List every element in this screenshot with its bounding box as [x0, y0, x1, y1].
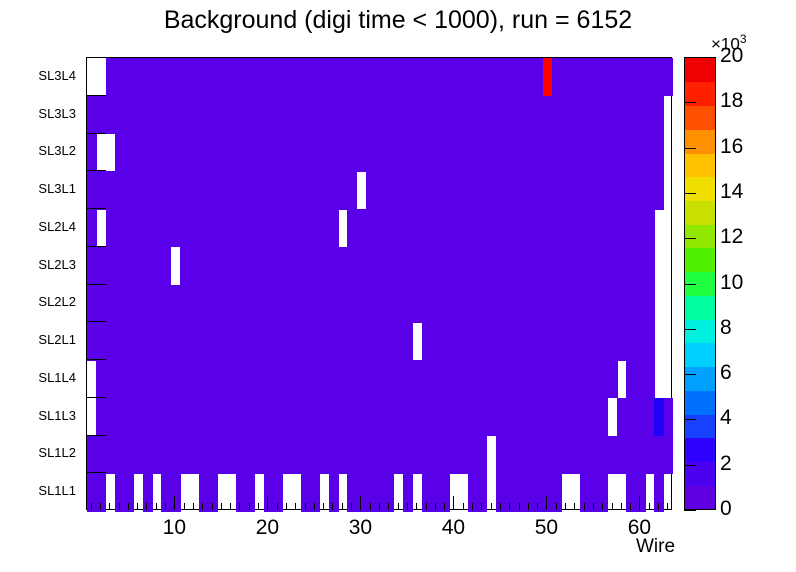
x-axis-minor-tick	[574, 503, 575, 510]
color-scale-label-0: 0	[720, 497, 732, 521]
x-axis-minor-tick	[519, 503, 520, 510]
x-axis-minor-tick	[295, 503, 296, 510]
x-axis-minor-tick	[407, 503, 408, 510]
y-axis-tick	[86, 208, 106, 209]
x-axis-minor-tick	[509, 503, 510, 510]
heatmap-cell	[552, 58, 673, 96]
heatmap-cells	[87, 58, 671, 509]
y-axis-tick	[86, 397, 106, 398]
heatmap-cell	[87, 96, 664, 134]
color-scale-tick	[684, 102, 696, 103]
y-axis-label-sl3l1: SL3L1	[14, 181, 76, 196]
y-axis-tick	[86, 359, 106, 360]
multiplier-exponent: 3	[740, 32, 747, 46]
x-axis-major-tick	[267, 496, 268, 510]
x-axis-title: Wire	[636, 536, 675, 558]
color-scale-band	[685, 390, 715, 414]
heatmap-cell	[180, 247, 655, 285]
x-axis-minor-tick	[109, 503, 110, 510]
x-axis-major-tick	[546, 496, 547, 510]
color-scale-tick	[684, 148, 696, 149]
color-scale-band	[685, 319, 715, 343]
x-axis-major-tick	[639, 496, 640, 510]
x-axis-major-tick	[174, 496, 175, 510]
y-axis-tick	[86, 95, 106, 96]
x-axis-minor-tick	[584, 503, 585, 510]
color-scale-label-6: 6	[720, 361, 732, 385]
x-axis-minor-tick	[444, 503, 445, 510]
x-axis-minor-tick	[239, 503, 240, 510]
color-scale-band	[685, 177, 715, 201]
color-scale-tick	[684, 284, 696, 285]
y-axis-label-sl2l3: SL2L3	[14, 257, 76, 272]
x-axis-minor-tick	[193, 503, 194, 510]
x-axis-minor-tick	[212, 503, 213, 510]
color-scale-tick	[684, 374, 696, 375]
y-axis-tick	[86, 472, 106, 473]
color-scale-band	[685, 343, 715, 367]
color-scale-label-2: 2	[720, 452, 732, 476]
x-axis-minor-tick	[165, 503, 166, 510]
y-axis-label-sl3l3: SL3L3	[14, 106, 76, 121]
heatmap-cell	[496, 436, 673, 474]
x-axis-minor-tick	[379, 503, 380, 510]
color-scale-label-16: 16	[720, 135, 743, 159]
x-axis-minor-tick	[528, 503, 529, 510]
x-axis-minor-tick	[612, 503, 613, 510]
x-axis-minor-tick	[156, 503, 157, 510]
x-axis-minor-tick	[556, 503, 557, 510]
heatmap-cell	[106, 58, 544, 96]
x-axis-minor-tick	[667, 503, 668, 510]
heatmap-cell	[96, 360, 617, 398]
x-axis-minor-tick	[314, 503, 315, 510]
x-axis-minor-tick	[435, 503, 436, 510]
heatmap-cell	[87, 209, 97, 247]
x-axis-major-tick	[360, 496, 361, 510]
color-scale-tick	[684, 510, 696, 511]
y-axis-tick	[86, 170, 106, 171]
x-axis-minor-tick	[388, 503, 389, 510]
x-axis-minor-tick	[472, 503, 473, 510]
root-canvas: Background (digi time < 1000), run = 615…	[0, 0, 796, 572]
color-scale-tick	[684, 238, 696, 239]
color-scale-band	[685, 414, 715, 438]
color-scale-band	[685, 153, 715, 177]
y-axis-tick	[86, 321, 106, 322]
heatmap-cell	[115, 473, 134, 511]
x-axis-minor-tick	[500, 503, 501, 510]
multiplier-base: ×10	[711, 35, 740, 54]
plot-frame[interactable]	[86, 57, 672, 510]
color-scale-band	[685, 129, 715, 153]
color-scale-tick	[684, 329, 696, 330]
y-axis-label-sl1l4: SL1L4	[14, 370, 76, 385]
x-axis-label-50: 50	[516, 516, 576, 540]
x-axis-minor-tick	[286, 503, 287, 510]
heatmap-cell	[301, 473, 320, 511]
color-scale-label-14: 14	[720, 180, 743, 204]
heatmap-cell	[106, 209, 339, 247]
heatmap-cell	[87, 436, 487, 474]
x-axis-minor-tick	[100, 503, 101, 510]
x-axis-minor-tick	[342, 503, 343, 510]
x-axis-minor-tick	[230, 503, 231, 510]
color-scale-label-18: 18	[720, 89, 743, 113]
color-scale-multiplier: ×103	[711, 32, 747, 55]
y-axis-tick	[86, 435, 106, 436]
heatmap-cell	[626, 360, 654, 398]
heatmap-cell	[664, 398, 674, 436]
color-scale-band	[685, 248, 715, 272]
y-axis-label-sl1l2: SL1L2	[14, 445, 76, 460]
x-axis-minor-tick	[398, 503, 399, 510]
heatmap-cell	[143, 473, 153, 511]
heatmap-cell	[403, 473, 413, 511]
y-axis-label-sl1l1: SL1L1	[14, 483, 76, 498]
x-axis-minor-tick	[323, 503, 324, 510]
heatmap-cell	[87, 247, 171, 285]
x-axis-minor-tick	[537, 503, 538, 510]
color-scale-tick	[684, 193, 696, 194]
x-axis-minor-tick	[128, 503, 129, 510]
heatmap-cell	[87, 285, 655, 323]
color-scale-band	[685, 224, 715, 248]
y-axis-tick	[86, 133, 106, 134]
color-scale-band	[685, 105, 715, 129]
heatmap-cell	[87, 171, 357, 209]
x-axis-major-tick	[453, 496, 454, 510]
x-axis-minor-tick	[221, 503, 222, 510]
color-scale-label-8: 8	[720, 316, 732, 340]
x-axis-minor-tick	[658, 503, 659, 510]
x-axis-minor-tick	[621, 503, 622, 510]
heatmap-cell	[87, 322, 413, 360]
heatmap-cell	[347, 209, 654, 247]
color-scale-label-10: 10	[720, 271, 743, 295]
heatmap-cell	[115, 134, 664, 172]
x-axis-minor-tick	[202, 503, 203, 510]
y-axis-label-sl1l3: SL1L3	[14, 408, 76, 423]
x-axis-minor-tick	[305, 503, 306, 510]
x-axis-label-40: 40	[423, 516, 483, 540]
x-axis-minor-tick	[351, 503, 352, 510]
x-axis-minor-tick	[184, 503, 185, 510]
x-axis-label-30: 30	[330, 516, 390, 540]
page-title: Background (digi time < 1000), run = 615…	[0, 6, 796, 35]
x-axis-minor-tick	[602, 503, 603, 510]
heatmap-cell	[96, 398, 608, 436]
x-axis-minor-tick	[332, 503, 333, 510]
color-scale-band	[685, 58, 715, 82]
heatmap-cell	[366, 171, 664, 209]
color-scale-band	[685, 438, 715, 462]
heatmap-cell	[543, 58, 553, 96]
heatmap-cell	[617, 398, 655, 436]
x-axis-minor-tick	[146, 503, 147, 510]
y-axis-label-sl2l4: SL2L4	[14, 219, 76, 234]
color-scale-band	[685, 485, 715, 509]
x-axis-minor-tick	[426, 503, 427, 510]
color-scale-label-4: 4	[720, 406, 732, 430]
y-axis-tick	[86, 246, 106, 247]
x-axis-minor-tick	[481, 503, 482, 510]
x-axis-minor-tick	[249, 503, 250, 510]
y-axis-label-sl3l4: SL3L4	[14, 68, 76, 83]
heatmap-cell	[87, 473, 106, 511]
x-axis-minor-tick	[119, 503, 120, 510]
x-axis-minor-tick	[649, 503, 650, 510]
x-axis-minor-tick	[91, 503, 92, 510]
x-axis-minor-tick	[277, 503, 278, 510]
y-axis-tick	[86, 284, 106, 285]
y-axis-label-sl2l1: SL2L1	[14, 332, 76, 347]
color-scale-band	[685, 367, 715, 391]
x-axis-label-10: 10	[144, 516, 204, 540]
heatmap-cell	[496, 473, 562, 511]
x-axis-label-20: 20	[237, 516, 297, 540]
x-axis-minor-tick	[463, 503, 464, 510]
x-axis-minor-tick	[416, 503, 417, 510]
x-axis-minor-tick	[593, 503, 594, 510]
heatmap-cell	[422, 322, 655, 360]
x-axis-minor-tick	[565, 503, 566, 510]
x-axis-minor-tick	[137, 503, 138, 510]
heatmap-cell	[87, 134, 97, 172]
heatmap-cell	[329, 473, 339, 511]
x-axis-minor-tick	[630, 503, 631, 510]
color-scale-label-12: 12	[720, 225, 743, 249]
color-scale-tick	[684, 465, 696, 466]
y-axis-label-sl2l2: SL2L2	[14, 294, 76, 309]
heatmap-cell	[654, 473, 664, 511]
color-scale-band	[685, 295, 715, 319]
color-scale-tick	[684, 419, 696, 420]
y-axis-label-sl3l2: SL3L2	[14, 143, 76, 158]
x-axis-minor-tick	[258, 503, 259, 510]
color-scale-band	[685, 200, 715, 224]
x-axis-minor-tick	[370, 503, 371, 510]
x-axis-minor-tick	[491, 503, 492, 510]
